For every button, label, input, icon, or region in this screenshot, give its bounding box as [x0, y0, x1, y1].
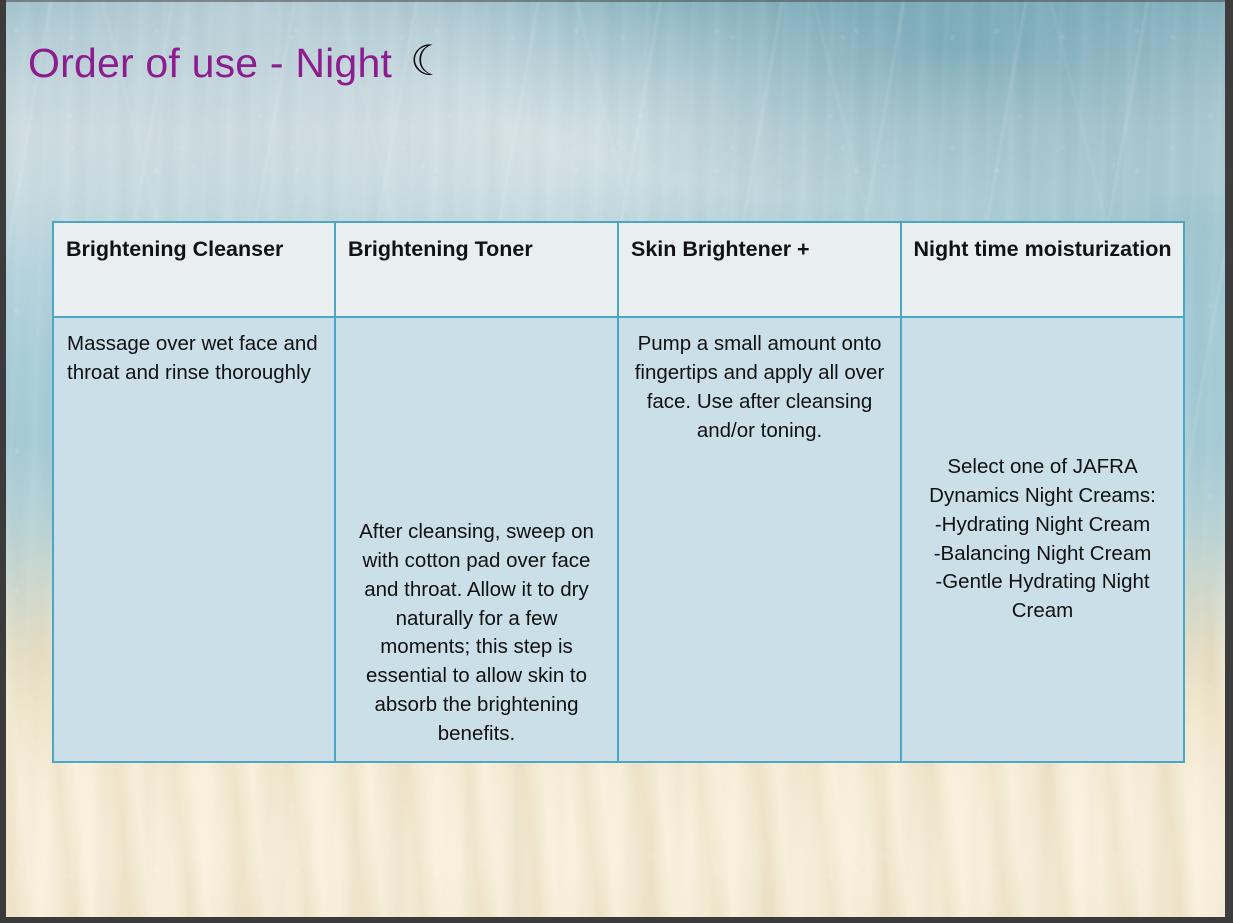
presentation-slide: Order of use - Night ☾ Brightening Clean… — [0, 0, 1233, 923]
column-header-label-1: Brightening Cleanser — [54, 223, 334, 262]
slide-frame-top — [0, 0, 1233, 2]
table-header-cell-skin-brightener: Skin Brightener + — [618, 222, 901, 317]
cell-content-4: Select one of JAFRA Dynamics Night Cream… — [902, 318, 1183, 761]
page-title: Order of use - Night — [28, 43, 392, 84]
night-routine-table: Brightening Cleanser Brightening Toner S… — [52, 221, 1185, 763]
table-cell-night-moisturizer-options: Select one of JAFRA Dynamics Night Cream… — [901, 317, 1184, 762]
routine-table-container: Brightening Cleanser Brightening Toner S… — [52, 221, 1183, 759]
slide-frame-bottom — [0, 917, 1233, 923]
table-body: Massage over wet face and throat and rin… — [53, 317, 1184, 762]
table-header-cell-brightening-cleanser: Brightening Cleanser — [53, 222, 335, 317]
slide-title-row: Order of use - Night ☾ — [28, 42, 448, 84]
slide-frame-right — [1225, 0, 1233, 923]
table-row: Massage over wet face and throat and rin… — [53, 317, 1184, 762]
column-header-label-4: Night time moisturization — [902, 223, 1183, 262]
cell-text-3: Pump a small amount onto fingertips and … — [632, 330, 887, 446]
cell-content-1: Massage over wet face and throat and rin… — [54, 318, 334, 761]
cell-text-4: Select one of JAFRA Dynamics Night Cream… — [915, 453, 1170, 626]
cell-content-3: Pump a small amount onto fingertips and … — [619, 318, 900, 761]
table-header-cell-night-time-moisturization: Night time moisturization — [901, 222, 1184, 317]
column-header-label-3: Skin Brightener + — [619, 223, 900, 262]
cell-text-1: Massage over wet face and throat and rin… — [67, 330, 321, 388]
table-cell-skin-brightener-instructions: Pump a small amount onto fingertips and … — [618, 317, 901, 762]
table-header-cell-brightening-toner: Brightening Toner — [335, 222, 618, 317]
cell-content-2: After cleansing, sweep on with cotton pa… — [336, 318, 617, 761]
table-header-row-group: Brightening Cleanser Brightening Toner S… — [53, 222, 1184, 317]
column-header-label-2: Brightening Toner — [336, 223, 617, 262]
slide-frame-left — [0, 0, 6, 923]
table-cell-cleanser-instructions: Massage over wet face and throat and rin… — [53, 317, 335, 762]
crescent-moon-icon: ☾ — [410, 40, 448, 82]
table-cell-toner-instructions: After cleansing, sweep on with cotton pa… — [335, 317, 618, 762]
cell-text-2: After cleansing, sweep on with cotton pa… — [349, 518, 604, 749]
table-header-row: Brightening Cleanser Brightening Toner S… — [53, 222, 1184, 317]
